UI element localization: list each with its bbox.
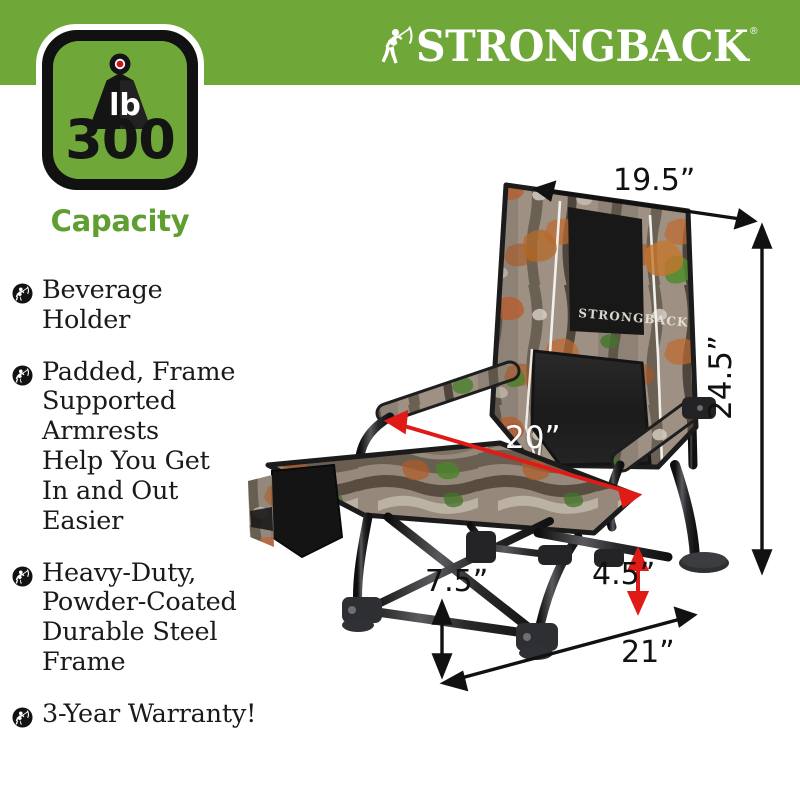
archer-bullet-icon: [12, 566, 33, 587]
feature-text: 3-Year Warranty!: [42, 700, 256, 730]
feature-text: BeverageHolder: [42, 276, 163, 336]
capacity-value: 300: [53, 113, 187, 167]
brand-logo: STRONGBACK ®: [380, 22, 758, 70]
archer-icon: [380, 24, 416, 68]
registered-trademark-icon: ®: [750, 26, 757, 37]
capacity-badge: lb 300: [36, 24, 204, 196]
archer-bullet-icon: [12, 707, 33, 728]
dimension-label-seat-height-front: 7.5”: [425, 567, 488, 597]
badge-face: lb 300: [53, 41, 187, 179]
list-item: 3-Year Warranty!: [12, 700, 302, 730]
brand-name: STRONGBACK: [416, 24, 748, 67]
dimension-label-seat-back-width: 20”: [505, 423, 561, 454]
dimension-label-seat-height-rear: 4.5”: [592, 560, 655, 590]
capacity-label: Capacity: [36, 204, 204, 238]
infographic-page: STRONGBACK ® lb 300 Capacity: [0, 0, 800, 800]
dimension-label-depth: 21”: [621, 638, 675, 668]
dimension-label-back-height: 24.5”: [706, 335, 737, 420]
archer-bullet-icon: [12, 365, 33, 386]
dimension-label-width-top: 19.5”: [613, 166, 695, 196]
archer-bullet-icon: [12, 283, 33, 304]
feature-text: Padded, FrameSupportedArmrestsHelp You G…: [42, 358, 235, 537]
